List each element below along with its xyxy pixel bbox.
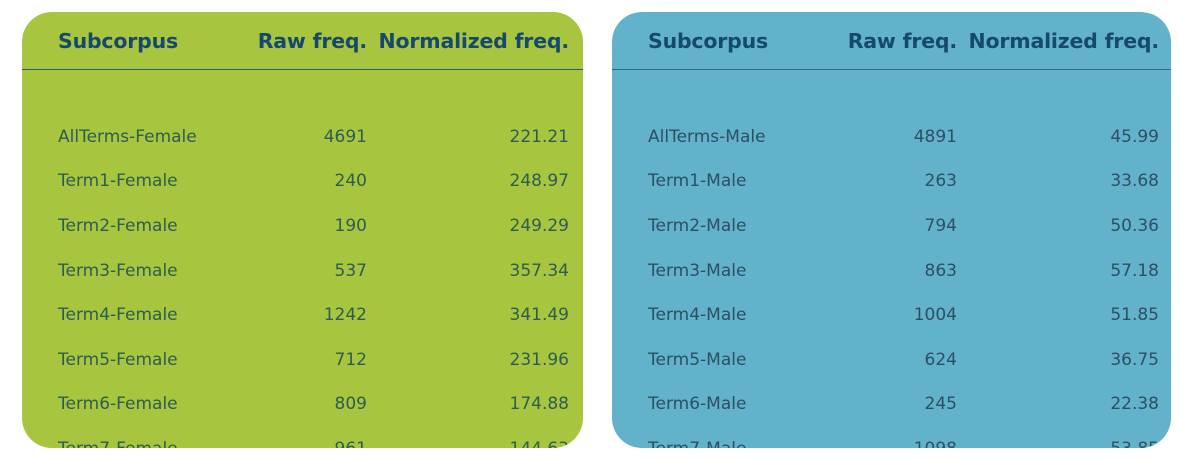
- cell-raw-freq: 245: [827, 382, 957, 427]
- cell-norm-freq: 341.49: [367, 293, 583, 338]
- cell-norm-freq: 248.97: [367, 159, 583, 204]
- cell-raw-freq: 1242: [237, 293, 367, 338]
- cell-subcorpus: Term4-Female: [22, 293, 237, 338]
- table-row: Term6-Male 245 22.38: [612, 382, 1171, 427]
- table-row: Term5-Female 712 231.96: [22, 338, 583, 383]
- cell-norm-freq: 57.18: [957, 248, 1171, 293]
- female-frequency-panel: Subcorpus Raw freq. Normalized freq. All…: [22, 12, 583, 448]
- frequency-tables-figure: Subcorpus Raw freq. Normalized freq. All…: [0, 0, 1179, 460]
- male-table-header: Subcorpus Raw freq. Normalized freq.: [612, 12, 1171, 70]
- cell-subcorpus: Term1-Female: [22, 159, 237, 204]
- table-row: Term2-Male 794 50.36: [612, 204, 1171, 249]
- cell-norm-freq: 221.21: [367, 115, 583, 160]
- table-row: Term3-Female 537 357.34: [22, 248, 583, 293]
- cell-raw-freq: 863: [827, 248, 957, 293]
- cell-raw-freq: 240: [237, 159, 367, 204]
- cell-subcorpus: Term5-Female: [22, 338, 237, 383]
- cell-norm-freq: 51.85: [957, 293, 1171, 338]
- cell-subcorpus: Term3-Female: [22, 248, 237, 293]
- cell-norm-freq: 36.75: [957, 338, 1171, 383]
- column-header-normalized-freq: Normalized freq.: [367, 12, 583, 70]
- cell-raw-freq: 961: [237, 427, 367, 448]
- cell-raw-freq: 190: [237, 204, 367, 249]
- table-row: Term5-Male 624 36.75: [612, 338, 1171, 383]
- cell-raw-freq: 794: [827, 204, 957, 249]
- cell-subcorpus: Term2-Female: [22, 204, 237, 249]
- cell-raw-freq: 809: [237, 382, 367, 427]
- cell-subcorpus: AllTerms-Female: [22, 115, 237, 160]
- cell-norm-freq: 231.96: [367, 338, 583, 383]
- male-frequency-panel: Subcorpus Raw freq. Normalized freq. All…: [612, 12, 1171, 448]
- header-row: Subcorpus Raw freq. Normalized freq.: [22, 12, 583, 70]
- cell-subcorpus: Term5-Male: [612, 338, 827, 383]
- table-row: AllTerms-Male 4891 45.99: [612, 115, 1171, 160]
- column-header-raw-freq: Raw freq.: [827, 12, 957, 70]
- cell-norm-freq: 50.36: [957, 204, 1171, 249]
- cell-subcorpus: Term7-Female: [22, 427, 237, 448]
- table-row: Term4-Male 1004 51.85: [612, 293, 1171, 338]
- header-spacer: [612, 70, 1171, 115]
- cell-subcorpus: AllTerms-Male: [612, 115, 827, 160]
- cell-norm-freq: 53.85: [957, 427, 1171, 448]
- header-row: Subcorpus Raw freq. Normalized freq.: [612, 12, 1171, 70]
- cell-raw-freq: 624: [827, 338, 957, 383]
- cell-norm-freq: 174.88: [367, 382, 583, 427]
- female-table-body: AllTerms-Female 4691 221.21 Term1-Female…: [22, 70, 583, 449]
- cell-norm-freq: 45.99: [957, 115, 1171, 160]
- female-table-header: Subcorpus Raw freq. Normalized freq.: [22, 12, 583, 70]
- cell-norm-freq: 249.29: [367, 204, 583, 249]
- male-frequency-table: Subcorpus Raw freq. Normalized freq. All…: [612, 12, 1171, 448]
- table-row: Term1-Male 263 33.68: [612, 159, 1171, 204]
- table-row: Term2-Female 190 249.29: [22, 204, 583, 249]
- cell-raw-freq: 712: [237, 338, 367, 383]
- table-row: AllTerms-Female 4691 221.21: [22, 115, 583, 160]
- cell-norm-freq: 22.38: [957, 382, 1171, 427]
- cell-norm-freq: 144.63: [367, 427, 583, 448]
- cell-subcorpus: Term1-Male: [612, 159, 827, 204]
- table-row: Term1-Female 240 248.97: [22, 159, 583, 204]
- table-row: Term7-Female 961 144.63: [22, 427, 583, 448]
- column-header-normalized-freq: Normalized freq.: [957, 12, 1171, 70]
- table-row: Term7-Male 1098 53.85: [612, 427, 1171, 448]
- cell-subcorpus: Term6-Female: [22, 382, 237, 427]
- cell-norm-freq: 357.34: [367, 248, 583, 293]
- column-header-raw-freq: Raw freq.: [237, 12, 367, 70]
- cell-raw-freq: 263: [827, 159, 957, 204]
- table-row: Term4-Female 1242 341.49: [22, 293, 583, 338]
- cell-raw-freq: 4691: [237, 115, 367, 160]
- cell-subcorpus: Term6-Male: [612, 382, 827, 427]
- cell-raw-freq: 4891: [827, 115, 957, 160]
- cell-raw-freq: 537: [237, 248, 367, 293]
- table-row: Term6-Female 809 174.88: [22, 382, 583, 427]
- cell-norm-freq: 33.68: [957, 159, 1171, 204]
- cell-subcorpus: Term4-Male: [612, 293, 827, 338]
- female-frequency-table: Subcorpus Raw freq. Normalized freq. All…: [22, 12, 583, 448]
- cell-subcorpus: Term2-Male: [612, 204, 827, 249]
- header-spacer: [22, 70, 583, 115]
- cell-subcorpus: Term7-Male: [612, 427, 827, 448]
- male-table-body: AllTerms-Male 4891 45.99 Term1-Male 263 …: [612, 70, 1171, 449]
- column-header-subcorpus: Subcorpus: [612, 12, 827, 70]
- column-header-subcorpus: Subcorpus: [22, 12, 237, 70]
- table-row: Term3-Male 863 57.18: [612, 248, 1171, 293]
- cell-raw-freq: 1004: [827, 293, 957, 338]
- cell-raw-freq: 1098: [827, 427, 957, 448]
- cell-subcorpus: Term3-Male: [612, 248, 827, 293]
